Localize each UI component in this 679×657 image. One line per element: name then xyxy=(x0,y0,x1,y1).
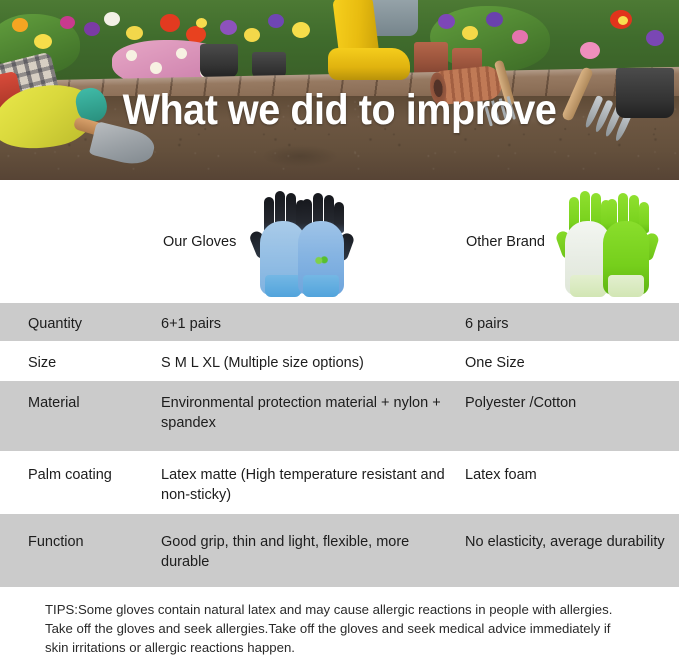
flower-violet-1 xyxy=(268,14,284,28)
our-gloves-image xyxy=(260,187,352,295)
column-header-other-brand: Other Brand xyxy=(466,234,545,250)
row-value-ours: Environmental protection material + nylo… xyxy=(161,393,465,433)
flower-yellow-3 xyxy=(196,18,207,28)
row-value-other: 6 pairs xyxy=(465,314,679,334)
table-row: Palm coating Latex matte (High temperatu… xyxy=(0,451,679,514)
flower-magenta-1 xyxy=(60,16,75,29)
flower-pink-2 xyxy=(580,42,600,59)
table-row: Size S M L XL (Multiple size options) On… xyxy=(0,341,679,381)
our-glove-cuff-back xyxy=(265,275,301,297)
flower-white-1 xyxy=(104,12,120,26)
flower-violet-3 xyxy=(646,30,664,46)
daisy-1 xyxy=(126,50,137,61)
column-header-our-gloves: Our Gloves xyxy=(163,234,236,250)
tips-note: TIPS:Some gloves contain natural latex a… xyxy=(0,587,679,657)
row-value-ours: Latex matte (High temperature resistant … xyxy=(161,465,465,505)
flower-orange-1 xyxy=(12,18,28,32)
flower-purple-2 xyxy=(220,20,237,35)
table-row: Material Environmental protection materi… xyxy=(0,381,679,451)
comparison-header: Our Gloves O xyxy=(0,180,679,303)
table-row: Function Good grip, thin and light, flex… xyxy=(0,514,679,587)
row-label: Material xyxy=(0,393,161,413)
our-glove-cuff-front xyxy=(303,275,339,297)
flower-yellow-1 xyxy=(34,34,52,49)
row-label: Size xyxy=(0,353,161,373)
comparison-table: Quantity 6+1 pairs 6 pairs Size S M L XL… xyxy=(0,303,679,587)
flower-violet-2 xyxy=(486,12,503,27)
flower-yellow-6 xyxy=(462,26,478,40)
other-brand-gloves-image xyxy=(565,187,657,295)
row-value-other: Polyester /Cotton xyxy=(465,393,679,413)
brand-logo-icon xyxy=(310,254,332,267)
flower-yellow-4 xyxy=(244,28,260,42)
flower-red-1 xyxy=(160,14,180,32)
row-value-other: Latex foam xyxy=(465,465,679,485)
row-label: Quantity xyxy=(0,314,161,334)
planter-1 xyxy=(200,44,238,78)
row-value-other: No elasticity, average durability xyxy=(465,532,679,552)
flower-yellow-7 xyxy=(618,16,628,25)
table-row: Quantity 6+1 pairs 6 pairs xyxy=(0,303,679,341)
other-glove-cuff-green xyxy=(608,275,644,297)
page-title: What we did to improve xyxy=(27,86,652,135)
other-glove-green-hand xyxy=(603,191,649,295)
rubber-boot-foot xyxy=(328,48,410,80)
daisy-2 xyxy=(150,62,162,74)
row-value-other: One Size xyxy=(465,353,679,373)
row-value-ours: 6+1 pairs xyxy=(161,314,465,334)
our-glove-front-hand xyxy=(298,191,344,295)
flower-yellow-5 xyxy=(292,22,310,38)
flower-purple-1 xyxy=(84,22,100,36)
hero-banner: What we did to improve xyxy=(0,0,679,180)
flower-purple-3 xyxy=(438,14,455,29)
row-label: Palm coating xyxy=(0,465,161,485)
flower-yellow-2 xyxy=(126,26,143,40)
row-value-ours: S M L XL (Multiple size options) xyxy=(161,353,465,373)
daisy-3 xyxy=(176,48,187,59)
row-value-ours: Good grip, thin and light, flexible, mor… xyxy=(161,532,465,572)
other-glove-cuff-white xyxy=(570,275,606,297)
row-label: Function xyxy=(0,532,161,552)
flower-pink-1 xyxy=(512,30,528,44)
